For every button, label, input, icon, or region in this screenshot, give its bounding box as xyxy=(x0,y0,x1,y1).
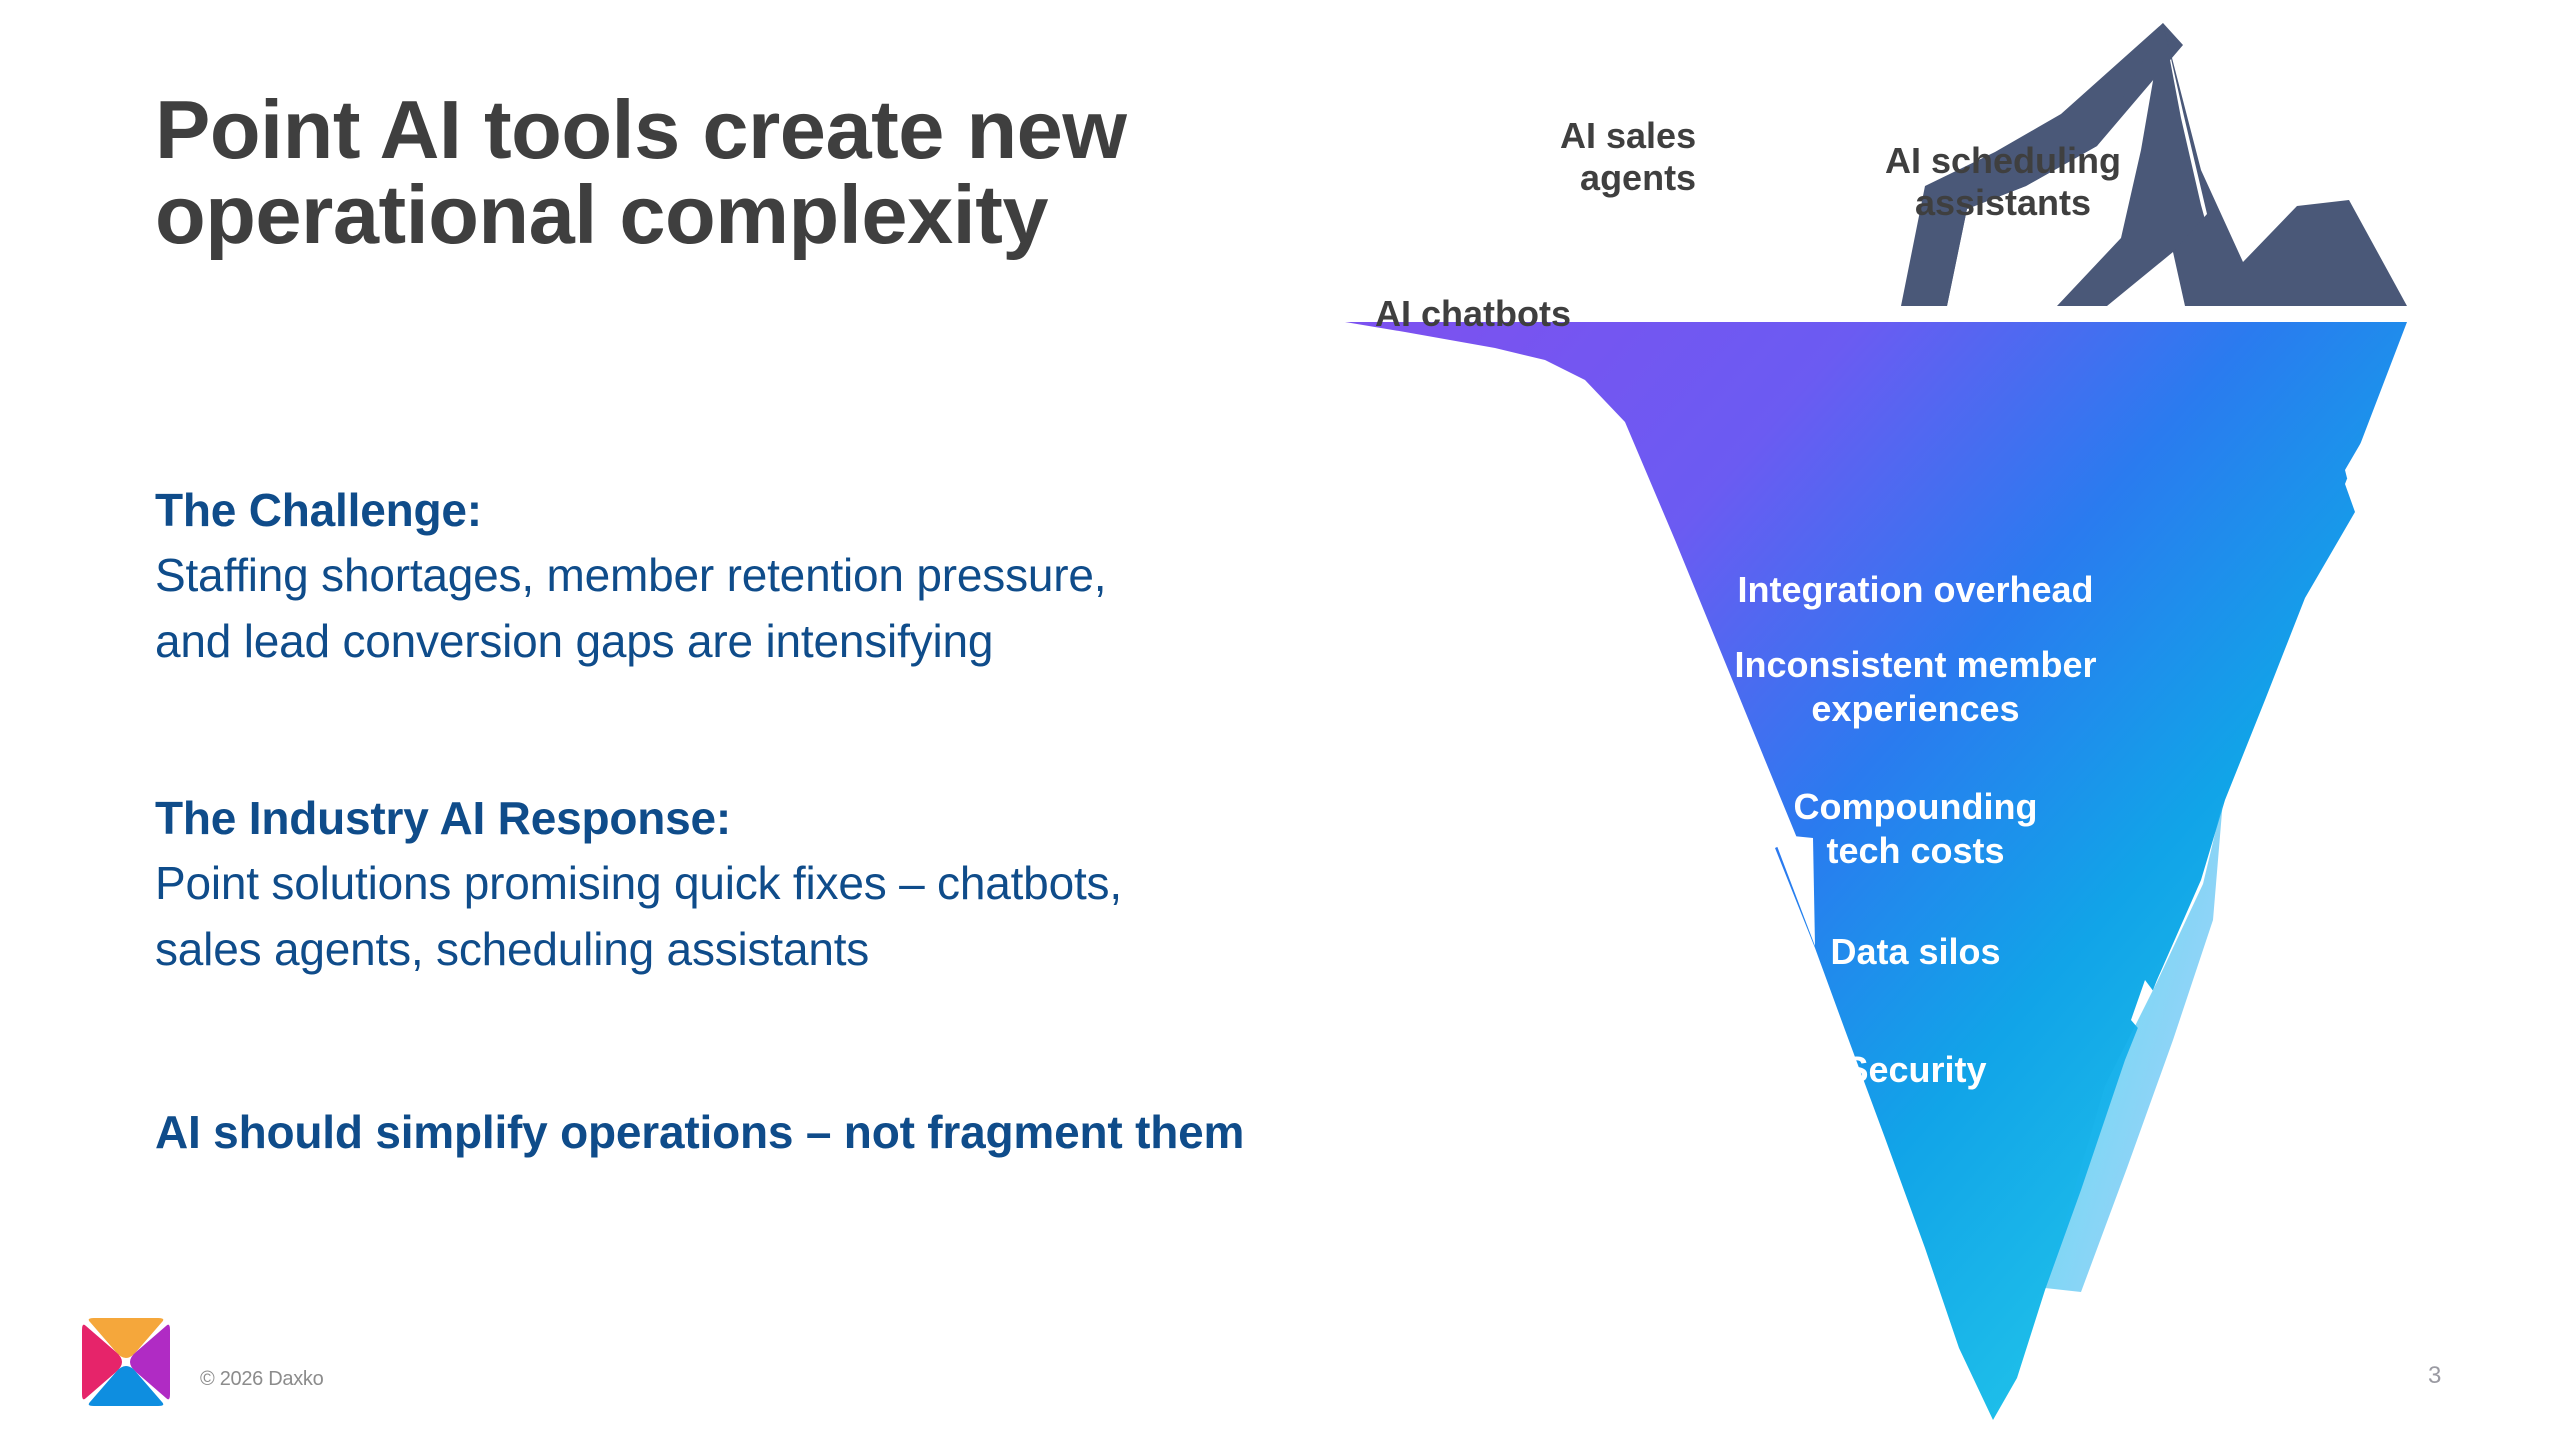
daxko-logo xyxy=(78,1314,174,1410)
challenge-body-line-1: Staffing shortages, member retention pre… xyxy=(155,543,1455,608)
challenge-heading: The Challenge: xyxy=(155,478,1455,543)
content-block-conclusion: AI should simplify operations – not frag… xyxy=(155,1100,1455,1165)
conclusion-heading-line-2: them xyxy=(1135,1106,1244,1158)
industry-response-heading: The Industry AI Response: xyxy=(155,786,1455,851)
label-ai-sales-agents-line-1: AI sales xyxy=(1560,115,1696,156)
label-ai-sales-agents-line-2: agents xyxy=(1580,157,1696,198)
iceberg-notch-left xyxy=(1777,836,1815,946)
label-ai-scheduling-assistants-line-2: assistants xyxy=(1915,182,2091,223)
block-spacer-2 xyxy=(155,1042,1455,1100)
body-content: The Challenge: Staffing shortages, membe… xyxy=(155,478,1455,1165)
slide-canvas: Point AI tools create new operational co… xyxy=(0,0,2560,1433)
iceberg-notch-right-mid xyxy=(2353,470,2421,524)
page-number: 3 xyxy=(2428,1362,2441,1390)
page-title-line-2: operational complexity xyxy=(155,168,1048,261)
content-block-industry-response: The Industry AI Response: Point solution… xyxy=(155,786,1455,982)
block-spacer-1 xyxy=(155,734,1455,786)
label-ai-scheduling-assistants: AI scheduling assistants xyxy=(1885,140,2121,225)
page-title: Point AI tools create new operational co… xyxy=(155,88,1395,257)
label-ai-sales-agents: AI sales agents xyxy=(1560,115,1696,200)
label-ai-scheduling-assistants-line-1: AI scheduling xyxy=(1885,140,2121,181)
daxko-logo-icon xyxy=(78,1314,174,1410)
label-ai-chatbots-line-1: AI chatbots xyxy=(1375,293,1571,334)
content-block-challenge: The Challenge: Staffing shortages, membe… xyxy=(155,478,1455,674)
challenge-body-line-2: and lead conversion gaps are intensifyin… xyxy=(155,609,1455,674)
label-ai-chatbots: AI chatbots xyxy=(1375,293,1571,335)
iceberg-submerged-body xyxy=(1345,322,2407,1420)
page-title-line-1: Point AI tools create new xyxy=(155,83,1126,176)
conclusion-heading-line-1: AI should simplify operations – not frag… xyxy=(155,1106,1123,1158)
iceberg-graphic: AI sales agents AI scheduling assistants… xyxy=(1345,0,2560,1433)
iceberg-tip-right xyxy=(2163,23,2407,306)
copyright-text: © 2026 Daxko xyxy=(200,1368,323,1391)
conclusion-heading: AI should simplify operations – not frag… xyxy=(155,1100,1455,1165)
industry-response-body-line-1: Point solutions promising quick fixes – … xyxy=(155,851,1455,916)
challenge-body: Staffing shortages, member retention pre… xyxy=(155,543,1455,674)
industry-response-body-line-2: sales agents, scheduling assistants xyxy=(155,917,1455,982)
industry-response-body: Point solutions promising quick fixes – … xyxy=(155,851,1455,982)
